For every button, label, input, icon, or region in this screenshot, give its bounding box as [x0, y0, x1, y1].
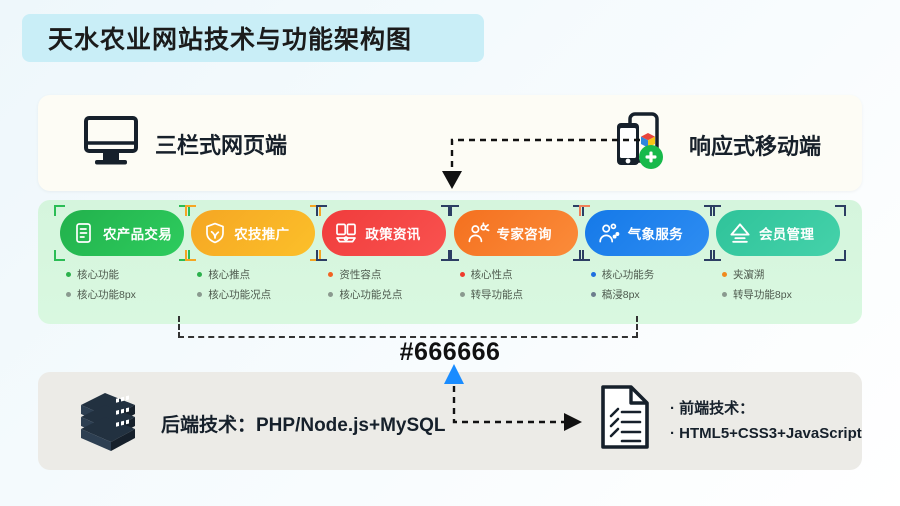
- shield-plant-icon: [203, 221, 227, 245]
- feature-card[interactable]: 农产品交易 核心功能 核心功能8px: [60, 210, 184, 324]
- backend-tech-label: 后端技术：PHP/Node.js+MySQL: [161, 410, 446, 437]
- feature-card[interactable]: 农技推广 核心推点 核心功能况点: [191, 210, 315, 324]
- client-web-label: 三栏式网页端: [155, 128, 287, 160]
- backend-tech[interactable]: 后端技术：PHP/Node.js+MySQL: [73, 389, 446, 458]
- feature-bullet: 核心功能务: [591, 267, 709, 282]
- feature-title: 气象服务: [628, 223, 683, 243]
- feature-bullet: 稿浸8px: [591, 287, 709, 302]
- feature-card[interactable]: 政策资讯 资性容点 核心功能兑点: [322, 210, 446, 324]
- feature-pill[interactable]: 会员管理: [716, 210, 840, 256]
- feature-bullet: 核心功能况点: [197, 287, 315, 302]
- feature-pill[interactable]: 专家咨询: [454, 210, 578, 256]
- frontend-tech[interactable]: · 前端技术： · HTML5+CSS3+JavaScript: [598, 384, 862, 455]
- client-mobile-label: 响应式移动端: [689, 129, 821, 161]
- bullet-dot-icon: [197, 292, 202, 297]
- feature-bullet-text: 核心功能况点: [208, 287, 271, 302]
- feature-bullet-list: 资性容点 核心功能兑点: [322, 267, 446, 302]
- feature-bullet-text: 夹濵溯: [733, 267, 765, 282]
- feature-bullet: 转导功能点: [460, 287, 578, 302]
- bullet-dot-icon: [328, 272, 333, 277]
- feature-bullet: 核心性点: [460, 267, 578, 282]
- frontend-line-0: · 前端技术：: [670, 397, 862, 418]
- bullet-dot-icon: [591, 272, 596, 277]
- feature-bullet-text: 转导功能点: [471, 287, 524, 302]
- feature-bullet-text: 资性容点: [339, 267, 381, 282]
- feature-card[interactable]: 气象服务 核心功能务 稿浸8px: [585, 210, 709, 324]
- hex-color-label: #666666: [0, 338, 900, 367]
- feature-pill[interactable]: 政策资讯: [322, 210, 446, 256]
- feature-bullet-text: 核心功能8px: [77, 287, 136, 302]
- feature-bullet-text: 核心性点: [471, 267, 513, 282]
- feature-card-list: 农产品交易 核心功能 核心功能8px 农技推广: [38, 200, 862, 324]
- expert-people-icon: [466, 221, 490, 245]
- frontend-line-1: · HTML5+CSS3+JavaScript: [670, 425, 862, 442]
- feature-title: 会员管理: [759, 223, 814, 243]
- feature-bullet-text: 稿浸8px: [602, 287, 640, 302]
- feature-bullet: 转导功能8px: [722, 287, 840, 302]
- document-list-icon: [72, 221, 96, 245]
- policy-screen-icon: [334, 221, 358, 245]
- feature-title: 政策资讯: [365, 223, 420, 243]
- bullet-dot-icon: [722, 292, 727, 297]
- feature-bullet: 核心功能: [66, 267, 184, 282]
- page-title-banner: 天水农业网站技术与功能架构图: [22, 14, 484, 62]
- client-web[interactable]: 三栏式网页端: [83, 115, 287, 172]
- weather-person-icon: [597, 221, 621, 245]
- desktop-monitor-icon: [83, 115, 139, 172]
- feature-bullet-list: 核心功能务 稿浸8px: [585, 267, 709, 302]
- page-title: 天水农业网站技术与功能架构图: [48, 20, 412, 56]
- feature-title: 农产品交易: [103, 223, 172, 243]
- feature-pill[interactable]: 农产品交易: [60, 210, 184, 256]
- bullet-dot-icon: [460, 272, 465, 277]
- member-hui-icon: [728, 221, 752, 245]
- bullet-dot-icon: [66, 292, 71, 297]
- feature-card[interactable]: 专家咨询 核心性点 转导功能点: [454, 210, 578, 324]
- feature-card[interactable]: 会员管理 夹濵溯 转导功能8px: [716, 210, 840, 324]
- feature-bullet: 核心功能兑点: [328, 287, 446, 302]
- bullet-dot-icon: [460, 292, 465, 297]
- frontend-tech-lines: · 前端技术： · HTML5+CSS3+JavaScript: [670, 397, 862, 442]
- feature-bullet-text: 核心推点: [208, 267, 250, 282]
- feature-layer-band: 农产品交易 核心功能 核心功能8px 农技推广: [38, 200, 862, 324]
- feature-bullet-text: 核心功能兑点: [339, 287, 402, 302]
- feature-pill[interactable]: 气象服务: [585, 210, 709, 256]
- server-stack-icon: [73, 389, 143, 458]
- feature-bullet: 核心推点: [197, 267, 315, 282]
- diagram-canvas: 天水农业网站技术与功能架构图 三栏式网页端: [0, 0, 900, 506]
- feature-title: 专家咨询: [497, 223, 552, 243]
- feature-bullet-text: 核心功能: [77, 267, 119, 282]
- feature-bullet: 核心功能8px: [66, 287, 184, 302]
- bullet-dot-icon: [328, 292, 333, 297]
- bullet-dot-icon: [591, 292, 596, 297]
- feature-bullet: 资性容点: [328, 267, 446, 282]
- feature-bullet-list: 核心推点 核心功能况点: [191, 267, 315, 302]
- client-mobile[interactable]: 响应式移动端: [613, 111, 821, 178]
- connector-client-to-features: [440, 135, 640, 197]
- feature-title: 农技推广: [234, 223, 289, 243]
- bullet-dot-icon: [197, 272, 202, 277]
- bullet-dot-icon: [722, 272, 727, 277]
- feature-bullet-list: 核心功能 核心功能8px: [60, 267, 184, 302]
- feature-bullet-text: 转导功能8px: [733, 287, 792, 302]
- feature-pill[interactable]: 农技推广: [191, 210, 315, 256]
- feature-bullet-text: 核心功能务: [602, 267, 655, 282]
- feature-group-bracket: [178, 316, 638, 338]
- bullet-dot-icon: [66, 272, 71, 277]
- feature-bullet: 夹濵溯: [722, 267, 840, 282]
- document-page-icon: [598, 384, 652, 455]
- connector-backend-to-frontend: [440, 364, 590, 436]
- feature-bullet-list: 核心性点 转导功能点: [454, 267, 578, 302]
- feature-bullet-list: 夹濵溯 转导功能8px: [716, 267, 840, 302]
